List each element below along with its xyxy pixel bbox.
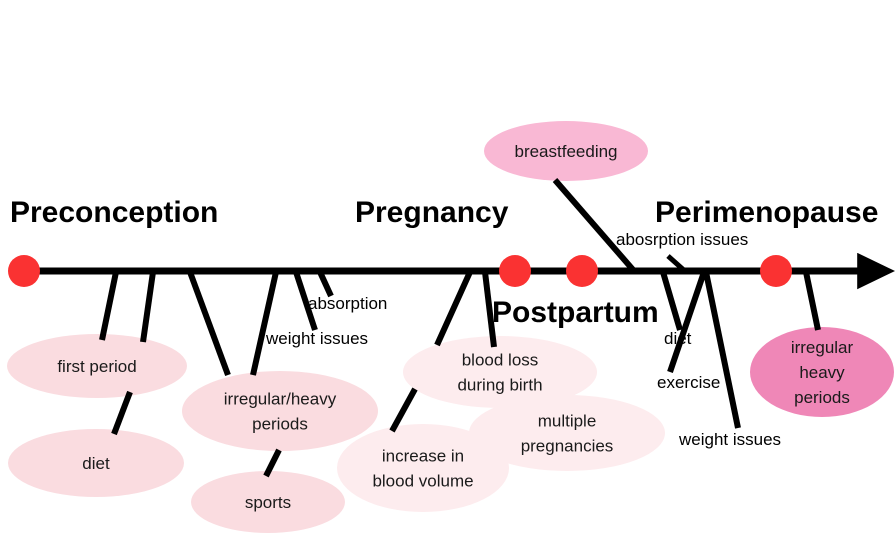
stage-heading-preconception: Preconception	[10, 196, 218, 229]
bubble-line: irregular	[791, 338, 854, 357]
stage-heading-pregnancy: Pregnancy	[355, 196, 509, 229]
bubble-line: blood loss	[462, 350, 539, 369]
stage-labels-layer: PreconceptionPregnancyPostpartumPerimeno…	[10, 196, 878, 329]
bubble-label-sports: sports	[245, 493, 291, 512]
leaf-label-weight-issues-preconception: weight issues	[265, 329, 368, 348]
connector-line-conn-diet-peri	[663, 272, 680, 330]
bubble-label-breastfeeding: breastfeeding	[514, 142, 617, 161]
timeline-diagram: breastfeedingfirst perioddietirregular/h…	[0, 0, 895, 543]
connector-line-conn-breastfeeding	[555, 180, 635, 272]
bubble-line: multiple	[538, 411, 597, 430]
bubble-multiple-pregnancies	[469, 395, 665, 471]
milestone-node-preconception[interactable]	[8, 255, 40, 287]
leaf-label-exercise-perimenopause: exercise	[657, 373, 720, 392]
connector-line-conn-diet-preconception	[143, 272, 153, 342]
bubble-line: during birth	[457, 375, 542, 394]
bubble-label-first-period: first period	[57, 357, 136, 376]
bubble-line: periods	[794, 388, 850, 407]
leaf-label-diet-perimenopause: diet	[664, 329, 692, 348]
leaf-label-weight-issues-perimenopause: weight issues	[678, 430, 781, 449]
bubble-label-diet-preconception: diet	[82, 454, 110, 473]
bubble-line: first period	[57, 357, 136, 376]
bubble-irregular-heavy-periods-preconception	[182, 371, 378, 451]
bubble-line: irregular/heavy	[224, 389, 337, 408]
leaf-label-abosrption-issues-perimenopause: abosrption issues	[616, 230, 748, 249]
timeline-canvas: breastfeedingfirst perioddietirregular/h…	[0, 0, 895, 543]
connector-line-conn-weight-issues-peri	[706, 272, 738, 428]
stage-heading-postpartum: Postpartum	[492, 296, 659, 329]
bubble-line: heavy	[799, 363, 845, 382]
connector-line-conn-blood-loss	[437, 272, 470, 345]
milestone-node-pregnancy[interactable]	[499, 255, 531, 287]
connector-line-conn-first-period	[102, 272, 116, 340]
milestone-node-perimenopause[interactable]	[760, 255, 792, 287]
bubble-line: sports	[245, 493, 291, 512]
bubble-line: increase in	[382, 446, 464, 465]
bubble-line: blood volume	[372, 471, 473, 490]
stage-heading-perimenopause: Perimenopause	[655, 196, 878, 229]
bubble-line: breastfeeding	[514, 142, 617, 161]
connector-line-conn-irregular-a	[190, 272, 228, 375]
milestone-node-postpartum[interactable]	[566, 255, 598, 287]
bubble-line: pregnancies	[521, 436, 614, 455]
bubble-label-irregular-heavy-periods-perimenopause: irregularheavyperiods	[791, 338, 854, 407]
leaf-label-absorption-preconception: absorption	[308, 294, 387, 313]
bubble-line: periods	[252, 414, 308, 433]
connector-line-conn-absorption-pre	[320, 272, 331, 296]
connector-line-conn-irregular-peri	[806, 272, 818, 330]
bubble-line: diet	[82, 454, 110, 473]
connector-line-conn-diet-link	[114, 392, 130, 434]
connector-line-conn-irregular-b	[253, 272, 276, 375]
